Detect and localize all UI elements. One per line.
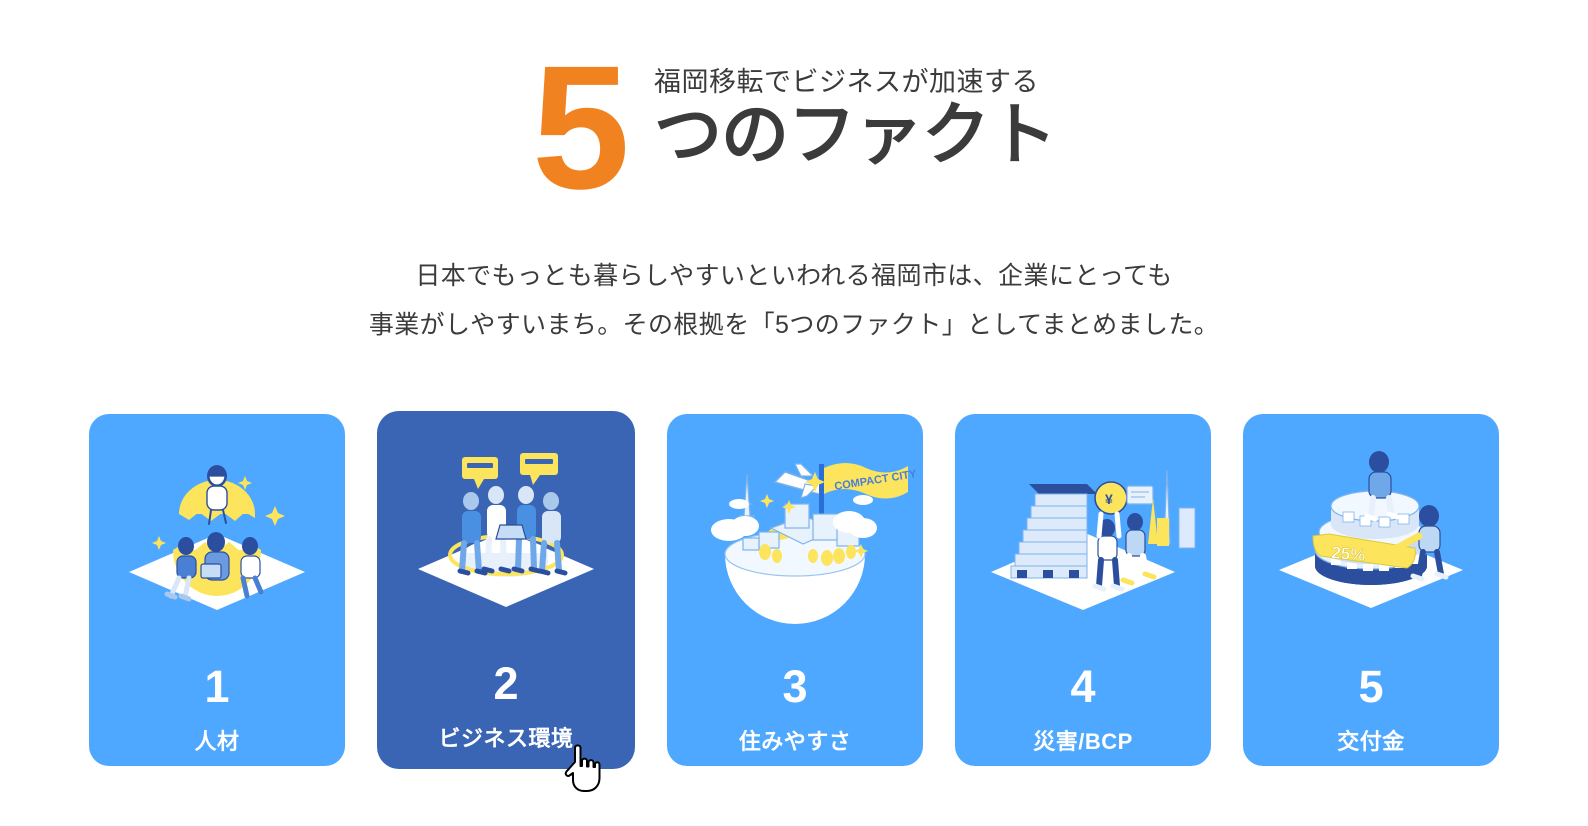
page-subtitle: 福岡移転でビジネスが加速する — [654, 44, 1056, 98]
title-block: 5 福岡移転でビジネスが加速する つのファクト — [532, 44, 1056, 204]
coin-stack-illustration: 25% — [1243, 432, 1499, 632]
fact-card-5[interactable]: 25% 5 交付金 — [1243, 414, 1499, 766]
fact-card-list: 1 人材 — [0, 414, 1588, 769]
page-header: 5 福岡移転でビジネスが加速する つのファクト — [0, 0, 1588, 204]
lead-line-2: 事業がしやすいまち。その根拠を「5つのファクト」としてまとめました。 — [0, 301, 1588, 350]
lead-line-1: 日本でもっとも暮らしやすいといわれる福岡市は、企業にとっても — [0, 252, 1588, 301]
card-number: 1 — [89, 664, 345, 709]
card-number: 5 — [1243, 664, 1499, 709]
big-number-five: 5 — [532, 40, 626, 216]
yen-symbol: ¥ — [1105, 491, 1113, 507]
card-label: 人材 — [89, 731, 345, 753]
speech-bubble-left — [462, 457, 498, 489]
compact-city-dome-illustration: COMPACT CITY — [667, 432, 923, 632]
card-label: 住みやすさ — [667, 731, 923, 753]
card-label: 交付金 — [1243, 731, 1499, 753]
card-label: 災害/BCP — [955, 731, 1211, 753]
speech-bubble-right — [520, 453, 558, 485]
people-on-egg-illustration — [89, 432, 345, 632]
fact-card-2[interactable]: 2 ビジネス環境 — [377, 411, 635, 769]
fact-card-4[interactable]: ¥ 4 災害/BCP — [955, 414, 1211, 766]
business-meeting-illustration — [377, 429, 635, 629]
fact-card-1[interactable]: 1 人材 — [89, 414, 345, 766]
card-number: 4 — [955, 664, 1211, 709]
page-title: つのファクト — [654, 100, 1056, 171]
title-text-group: 福岡移転でビジネスが加速する つのファクト — [654, 44, 1056, 172]
card-number: 2 — [377, 661, 635, 706]
building-and-people-illustration: ¥ — [955, 432, 1211, 632]
percent-band-text: 25% — [1331, 543, 1367, 565]
card-label: ビジネス環境 — [377, 728, 635, 750]
card-number: 3 — [667, 664, 923, 709]
lead-paragraph: 日本でもっとも暮らしやすいといわれる福岡市は、企業にとっても 事業がしやすいまち… — [0, 252, 1588, 350]
fact-card-3[interactable]: COMPACT CITY — [667, 414, 923, 766]
